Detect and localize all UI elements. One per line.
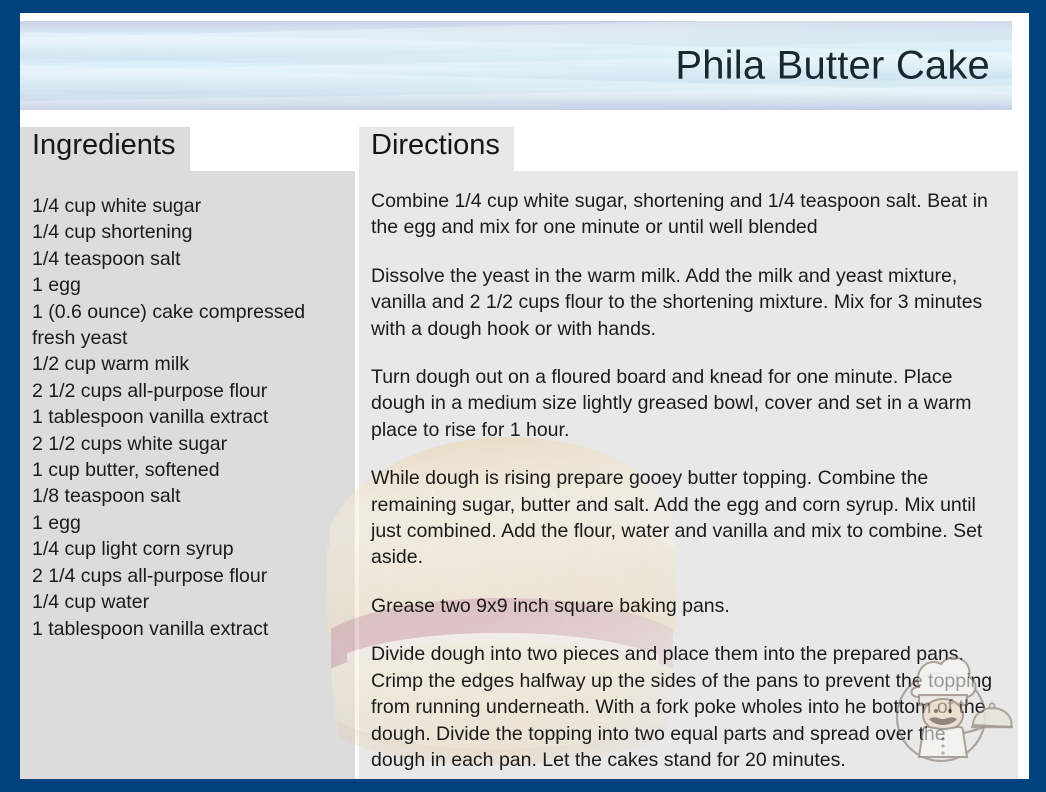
ingredients-panel: Ingredients 1/4 cup white sugar 1/4 cup … (20, 127, 355, 779)
content-columns: Ingredients 1/4 cup white sugar 1/4 cup … (20, 127, 1029, 779)
ingredients-heading-row: Ingredients (20, 127, 355, 171)
directions-heading-row: Directions (359, 127, 1018, 171)
ingredient-item: 1 tablespoon vanilla extract (32, 616, 345, 642)
recipe-title: Phila Butter Cake (675, 43, 990, 88)
direction-step: Combine 1/4 cup white sugar, shortening … (371, 188, 1002, 241)
direction-step: Turn dough out on a floured board and kn… (371, 364, 1002, 443)
recipe-card: Phila Butter Cake (0, 0, 1046, 792)
direction-step: Dissolve the yeast in the warm milk. Add… (371, 263, 1002, 342)
ingredient-item: 2 1/2 cups all-purpose flour (32, 378, 345, 404)
ingredient-item: 2 1/4 cups all-purpose flour (32, 563, 345, 589)
direction-step: Divide dough into two pieces and place t… (371, 641, 1002, 773)
ingredient-item: 1 cup butter, softened (32, 457, 345, 483)
directions-body: Combine 1/4 cup white sugar, shortening … (359, 171, 1018, 773)
ingredient-item: 1/4 cup white sugar (32, 193, 345, 219)
directions-panel: Directions Combine 1/4 cup white sugar, … (359, 127, 1018, 779)
ingredient-item: 1/4 cup water (32, 589, 345, 615)
header-banner: Phila Butter Cake (20, 21, 1012, 110)
direction-step: Grease two 9x9 inch square baking pans. (371, 593, 1002, 619)
ingredient-item: 1 egg (32, 510, 345, 536)
ingredient-item: 1/8 teaspoon salt (32, 483, 345, 509)
ingredients-heading: Ingredients (20, 127, 190, 171)
directions-heading: Directions (359, 127, 514, 171)
ingredient-item: 1/4 cup light corn syrup (32, 536, 345, 562)
ingredient-item: 1 (0.6 ounce) cake compressed fresh yeas… (32, 299, 345, 352)
page-surface: Phila Butter Cake (20, 13, 1029, 779)
ingredient-item: 1/4 cup shortening (32, 219, 345, 245)
ingredient-item: 1/2 cup warm milk (32, 351, 345, 377)
direction-step: While dough is rising prepare gooey butt… (371, 465, 1002, 571)
ingredient-item: 1/4 teaspoon salt (32, 246, 345, 272)
ingredients-list: 1/4 cup white sugar 1/4 cup shortening 1… (20, 171, 355, 642)
ingredient-item: 1 egg (32, 272, 345, 298)
ingredient-item: 1 tablespoon vanilla extract (32, 404, 345, 430)
ingredient-item: 2 1/2 cups white sugar (32, 431, 345, 457)
